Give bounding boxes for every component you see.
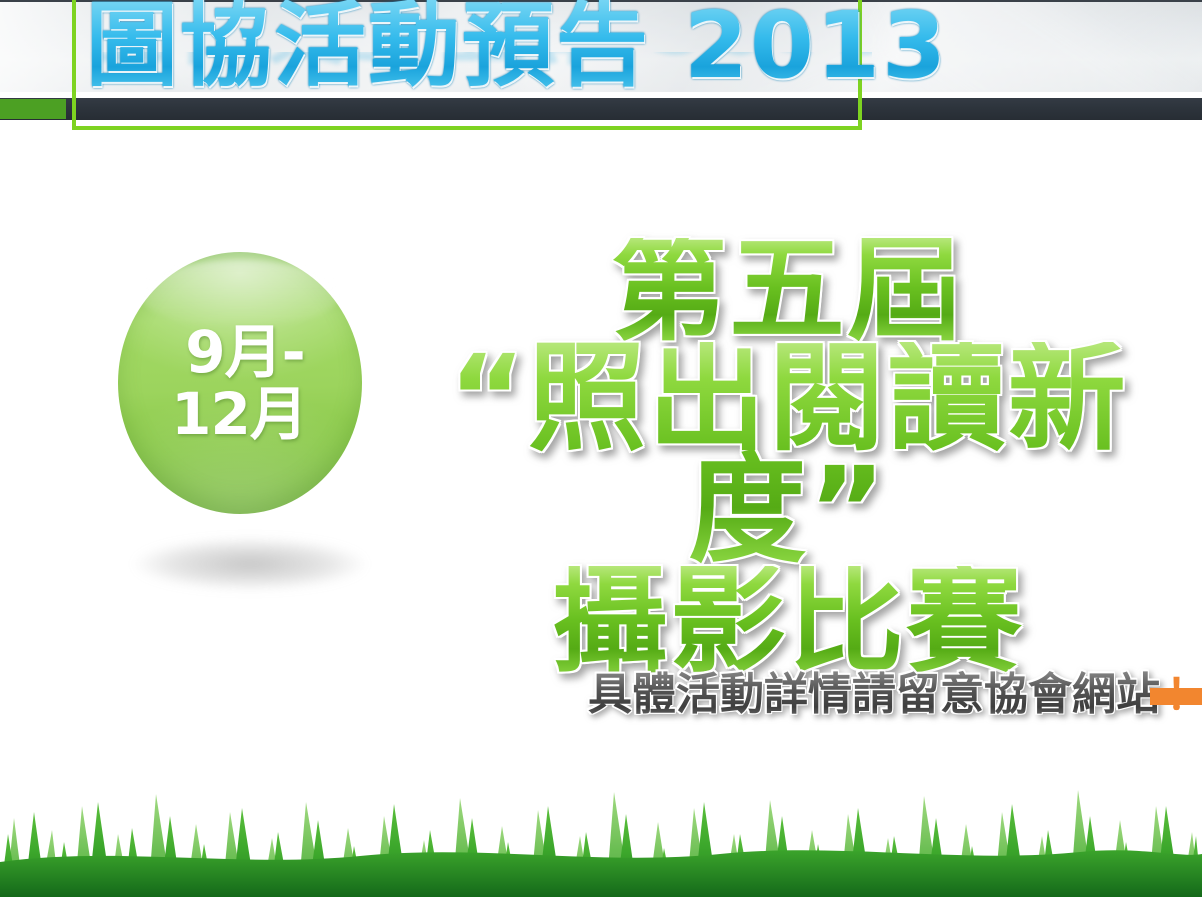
grass-border-icon bbox=[0, 772, 1202, 897]
date-badge-line-1: 9月- bbox=[185, 321, 304, 383]
date-badge-line-2: 12月 bbox=[171, 383, 307, 445]
page-title: 圖協活動預告 2013 bbox=[86, 0, 948, 98]
footnote: 具體活動詳情請留意協會網站 ！ bbox=[588, 668, 1202, 722]
date-badge-shadow bbox=[134, 538, 366, 590]
footnote-text: 具體活動詳情請留意協會網站 bbox=[588, 668, 1160, 722]
headline-line-2: “照出閱讀新度” bbox=[388, 342, 1188, 566]
headline-line-1: 第五屆 bbox=[388, 238, 1188, 342]
header-dark-bar bbox=[0, 98, 1202, 120]
event-headline: 第五屆 “照出閱讀新度” 攝影比賽 bbox=[388, 238, 1188, 678]
date-badge-text: 9月- 12月 bbox=[118, 252, 362, 514]
slide-canvas: 圖協活動預告 2013 圖協活動預告 2013 9月- 12月 第五屆 “照出閱… bbox=[0, 0, 1202, 897]
date-badge: 9月- 12月 bbox=[118, 252, 364, 518]
header-green-accent-block bbox=[0, 99, 66, 119]
footnote-accent-rule bbox=[1150, 688, 1202, 705]
headline-line-3: 攝影比賽 bbox=[388, 566, 1188, 678]
